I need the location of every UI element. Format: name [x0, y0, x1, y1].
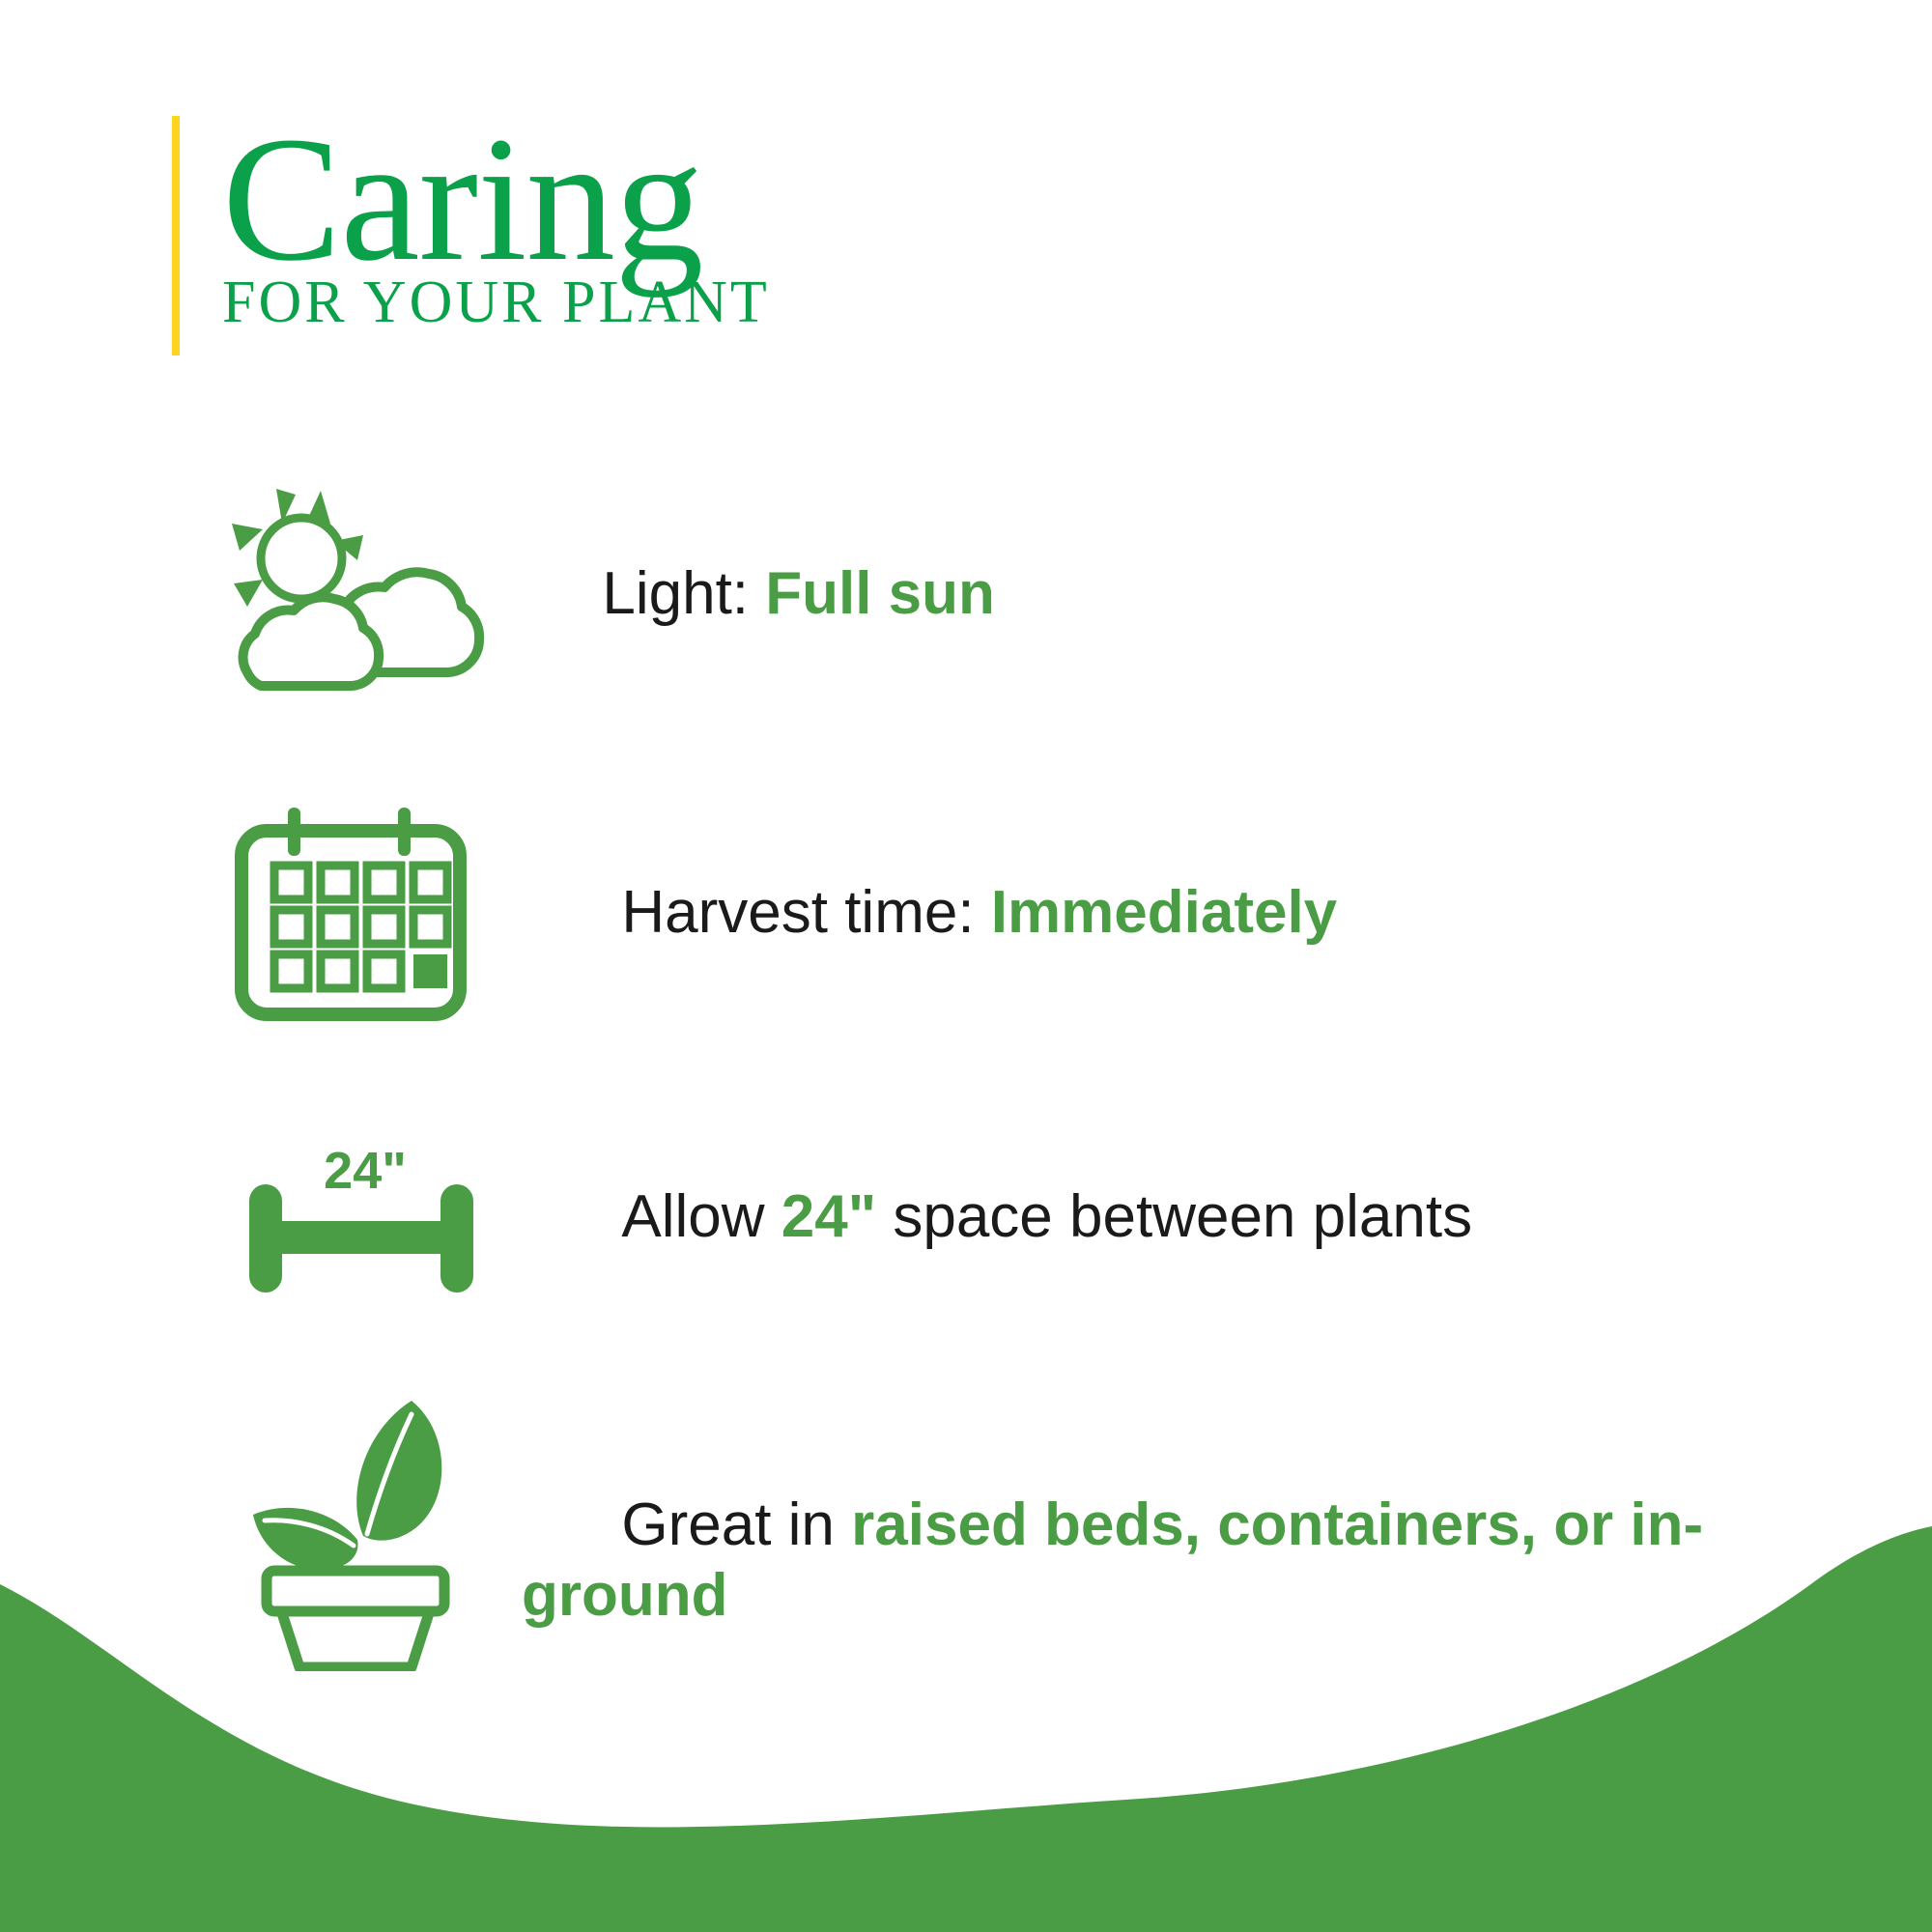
care-row-light-value: Full sun: [765, 560, 995, 627]
page-title: Caring: [222, 116, 770, 282]
care-row-spacing-text: Allow 24" space between plants: [522, 1111, 1472, 1322]
calendar-icon: [232, 802, 522, 1024]
care-row-light-label: Light:: [602, 560, 765, 627]
care-row-harvest-value: Immediately: [991, 879, 1337, 946]
plant-spacing-icon: 24": [232, 1130, 522, 1304]
spacing-icon-label: 24": [324, 1142, 407, 1200]
care-row-light: Light: Full sun: [232, 483, 1874, 705]
care-row-harvest-text: Harvest time: Immediately: [522, 807, 1337, 1018]
page-subtitle: FOR YOUR PLANT: [222, 269, 770, 337]
accent-bar: [172, 116, 180, 355]
care-row-spacing: 24" Allow 24" space between plants: [232, 1121, 1874, 1314]
sun-behind-clouds-icon: [213, 483, 502, 705]
care-row-light-text: Light: Full sun: [502, 488, 995, 699]
care-row-harvest: Harvest time: Immediately: [232, 802, 1874, 1024]
care-row-spacing-value: 24": [781, 1183, 876, 1250]
bottom-wave-decoration: [0, 1526, 1932, 1932]
care-row-spacing-label-before: Allow: [621, 1183, 781, 1250]
header: Caring FOR YOUR PLANT: [172, 116, 770, 355]
care-row-spacing-label-after: space between plants: [876, 1183, 1472, 1250]
title-group: Caring FOR YOUR PLANT: [222, 116, 770, 355]
care-row-harvest-label: Harvest time:: [621, 879, 990, 946]
